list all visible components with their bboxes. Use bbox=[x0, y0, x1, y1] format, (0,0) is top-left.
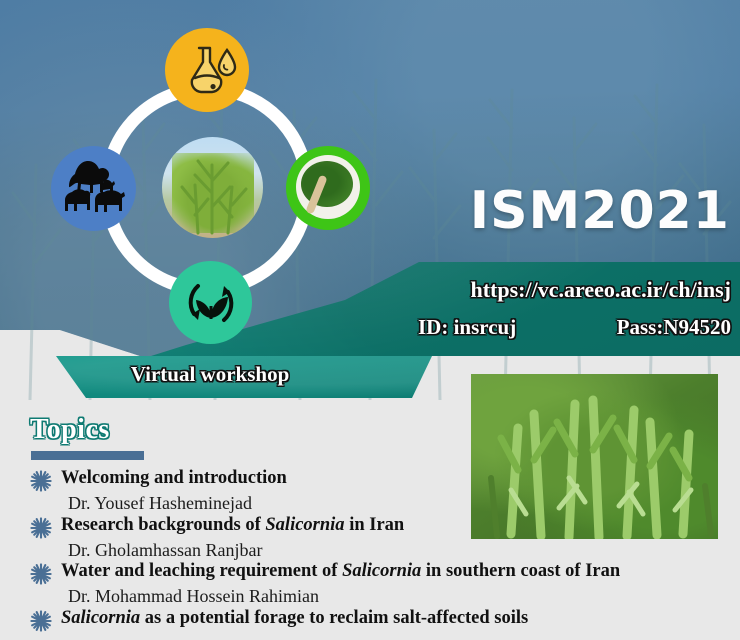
topic-title-row: Salicornia as a potential forage to recl… bbox=[30, 608, 730, 632]
salicornia-plant-photo bbox=[162, 137, 263, 238]
hero-section: ISM2021 https://vc.areeo.ac.ir/ch/insj I… bbox=[0, 0, 740, 400]
meeting-id: ID: insrcuj bbox=[418, 315, 516, 340]
topic-speaker: Dr. Yousef Hasheminejad bbox=[68, 492, 730, 515]
list-item: Salicornia as a potential forage to recl… bbox=[30, 608, 730, 632]
topic-title: Salicornia as a potential forage to recl… bbox=[61, 608, 528, 630]
food-bowl-icon bbox=[286, 146, 370, 230]
page-title: ISM2021 bbox=[470, 185, 730, 237]
star-bullet-icon bbox=[30, 563, 52, 585]
list-item: Water and leaching requirement of Salico… bbox=[30, 561, 730, 608]
topic-title: Water and leaching requirement of Salico… bbox=[61, 561, 620, 583]
topic-title-row: Welcoming and introduction bbox=[30, 468, 730, 492]
topics-list: Welcoming and introduction Dr. Yousef Ha… bbox=[30, 468, 730, 632]
plant-stems-detail bbox=[162, 137, 263, 238]
livestock-icon bbox=[51, 146, 136, 231]
topic-title: Welcoming and introduction bbox=[61, 468, 287, 490]
star-bullet-icon bbox=[30, 517, 52, 539]
star-bullet-icon bbox=[30, 610, 52, 632]
oil-flask-droplet-icon bbox=[165, 28, 249, 112]
banner-label: Virtual workshop bbox=[0, 362, 420, 387]
topic-title-row: Water and leaching requirement of Salico… bbox=[30, 561, 730, 585]
topic-title: Research backgrounds of Salicornia in Ir… bbox=[61, 515, 404, 537]
eco-recycle-leaf-icon bbox=[169, 261, 252, 344]
topic-speaker: Dr. Gholamhassan Ranjbar bbox=[68, 539, 730, 562]
meeting-link[interactable]: https://vc.areeo.ac.ir/ch/insj bbox=[471, 277, 732, 303]
star-bullet-icon bbox=[30, 470, 52, 492]
credentials-row: ID: insrcuj Pass:N94520 bbox=[418, 315, 731, 340]
topics-heading: Topics bbox=[30, 414, 110, 446]
meeting-pass: Pass:N94520 bbox=[617, 315, 731, 340]
topics-underline bbox=[31, 451, 144, 460]
topic-title-row: Research backgrounds of Salicornia in Ir… bbox=[30, 515, 730, 539]
poster-root: ISM2021 https://vc.areeo.ac.ir/ch/insj I… bbox=[0, 0, 740, 640]
infographic-wheel bbox=[48, 20, 378, 340]
topic-speaker: Dr. Mohammad Hossein Rahimian bbox=[68, 585, 730, 608]
list-item: Welcoming and introduction Dr. Yousef Ha… bbox=[30, 468, 730, 515]
list-item: Research backgrounds of Salicornia in Ir… bbox=[30, 515, 730, 562]
